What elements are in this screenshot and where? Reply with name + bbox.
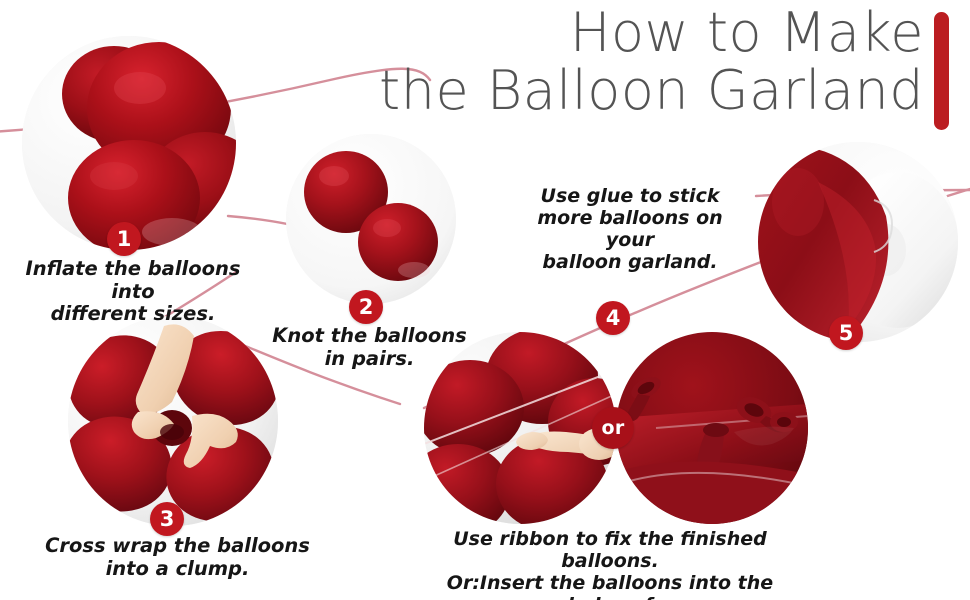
step-3-photo <box>68 316 278 526</box>
title-line-1: How to Make <box>379 6 924 60</box>
step-5-caption: Use glue to stick more balloons on your … <box>510 185 750 273</box>
title-accent-bar <box>934 12 949 130</box>
step-3-badge-label: 3 <box>160 507 175 531</box>
step-2-badge: 2 <box>349 290 383 324</box>
title-line-2: the Balloon Garland <box>379 64 924 118</box>
step-4-caption: Use ribbon to fix the finished balloons.… <box>415 528 805 600</box>
step-5-badge: 5 <box>829 316 863 350</box>
step-4-badge: 4 <box>596 301 630 335</box>
step-4-badge-label: 4 <box>606 306 621 330</box>
step-5-photo <box>758 142 958 342</box>
step-1-caption: Inflate the balloons into different size… <box>8 258 258 326</box>
page-title: How to Make the Balloon Garland <box>379 6 924 118</box>
step-2-photo <box>286 134 456 304</box>
infographic-canvas: How to Make the Balloon Garland <box>0 0 970 600</box>
step-2-caption: Knot the balloons in pairs. <box>262 325 477 370</box>
step-5-badge-label: 5 <box>839 321 854 345</box>
step-1-photo <box>22 36 236 250</box>
step-2-badge-label: 2 <box>359 295 374 319</box>
step-4-photo-right <box>616 332 808 524</box>
step-4-or-label: or <box>601 417 624 439</box>
step-3-badge: 3 <box>150 502 184 536</box>
step-1-badge: 1 <box>107 222 141 256</box>
step-4-or-badge: or <box>592 407 634 449</box>
step-3-caption: Cross wrap the balloons into a clump. <box>45 535 310 580</box>
step-1-badge-label: 1 <box>117 227 132 251</box>
